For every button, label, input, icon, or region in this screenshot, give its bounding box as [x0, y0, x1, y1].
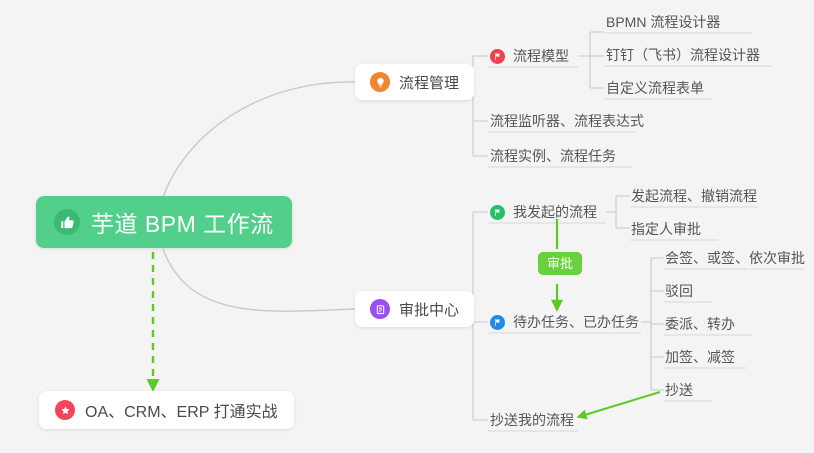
topic-bpmn-designer[interactable]: BPMN 流程设计器: [606, 11, 720, 33]
connector-root-to-approval-center: [163, 249, 355, 311]
topic-start-cancel-process[interactable]: 发起流程、撤销流程: [631, 185, 757, 207]
topic-label-my-started-process: 我发起的流程: [513, 202, 597, 222]
connector-process-model-spine: [578, 32, 604, 88]
bottom-node-label: OA、CRM、ERP 打通实战: [85, 398, 278, 422]
clipboard-icon: [370, 299, 390, 319]
topic-label-custom-form: 自定义流程表单: [606, 78, 704, 98]
connector-todo-done-task-spine: [641, 258, 664, 390]
flag-icon: [490, 49, 505, 64]
flag-icon: [490, 315, 505, 330]
flag-icon: [490, 205, 505, 220]
star-icon: [55, 400, 75, 420]
topic-assignee-approve[interactable]: 指定人审批: [631, 218, 701, 240]
topic-countersign[interactable]: 会签、或签、依次审批: [665, 247, 805, 269]
root-node-label: 芋道 BPM 工作流: [91, 205, 274, 239]
topic-custom-form[interactable]: 自定义流程表单: [606, 77, 704, 99]
lightbulb-icon: [370, 72, 390, 92]
topic-label-todo-done-task: 待办任务、已办任务: [513, 312, 639, 332]
topic-label-countersign: 会签、或签、依次审批: [665, 248, 805, 268]
thumbs-up-icon: [54, 209, 80, 235]
branch-label-approval-center: 审批中心: [399, 299, 459, 320]
topic-label-reject: 驳回: [665, 281, 693, 301]
topic-my-started-process[interactable]: 我发起的流程: [490, 201, 597, 223]
bottom-node-oa-crm-erp[interactable]: OA、CRM、ERP 打通实战: [39, 391, 294, 429]
topic-label-process-model: 流程模型: [513, 46, 569, 66]
topic-label-process-listener: 流程监听器、流程表达式: [490, 111, 644, 131]
topic-delegate-transfer[interactable]: 委派、转办: [665, 313, 735, 335]
topic-todo-done-task[interactable]: 待办任务、已办任务: [490, 311, 639, 333]
topic-cc[interactable]: 抄送: [665, 379, 693, 401]
root-node[interactable]: 芋道 BPM 工作流: [36, 196, 292, 248]
topic-label-start-cancel-process: 发起流程、撤销流程: [631, 186, 757, 206]
topic-process-listener[interactable]: 流程监听器、流程表达式: [490, 110, 644, 132]
topic-dingtalk-designer[interactable]: 钉钉（飞书）流程设计器: [606, 44, 760, 66]
branch-node-approval-center[interactable]: 审批中心: [355, 291, 474, 327]
connector-my-started-process-spine: [606, 196, 630, 228]
topic-label-dingtalk-designer: 钉钉（飞书）流程设计器: [606, 45, 760, 65]
topic-process-model[interactable]: 流程模型: [490, 45, 569, 67]
topic-label-process-instance: 流程实例、流程任务: [490, 146, 616, 166]
topic-label-assignee-approve: 指定人审批: [631, 219, 701, 239]
topic-label-cc: 抄送: [665, 380, 693, 400]
branch-node-process-management[interactable]: 流程管理: [355, 64, 474, 100]
mindmap-canvas: 芋道 BPM 工作流 流程管理 审批中心 流程模型: [0, 0, 814, 453]
topic-add-remove-sign[interactable]: 加签、减签: [665, 346, 735, 368]
annotation-cc-arrow: [578, 392, 660, 417]
topic-process-instance[interactable]: 流程实例、流程任务: [490, 145, 616, 167]
topic-cc-my-process[interactable]: 抄送我的流程: [490, 409, 574, 431]
topic-label-delegate-transfer: 委派、转办: [665, 314, 735, 334]
topic-label-add-remove-sign: 加签、减签: [665, 347, 735, 367]
connector-root-to-process-management: [163, 82, 355, 197]
branch-label-process-management: 流程管理: [399, 72, 459, 93]
topic-reject[interactable]: 驳回: [665, 280, 693, 302]
topic-label-bpmn-designer: BPMN 流程设计器: [606, 12, 720, 32]
topic-label-cc-my-process: 抄送我的流程: [490, 410, 574, 430]
approve-annotation-badge: 审批: [538, 252, 582, 275]
